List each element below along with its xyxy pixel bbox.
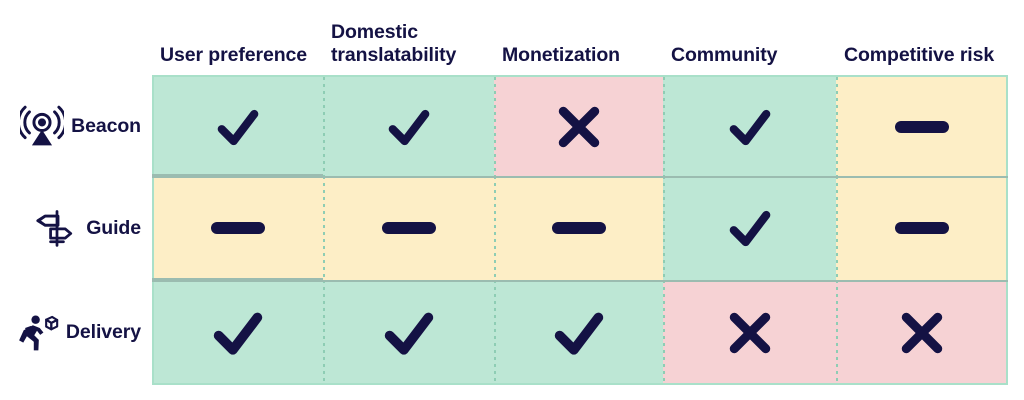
check-icon — [207, 302, 269, 364]
table-top-border — [152, 75, 1008, 77]
column-header-community: Community — [663, 0, 836, 77]
delivery-runner-icon — [15, 311, 59, 355]
row-header-delivery: Delivery — [0, 280, 152, 385]
cell-guide-user-preference — [152, 176, 323, 280]
beacon-icon — [20, 105, 64, 149]
dash-icon — [895, 222, 949, 234]
table-bottom-border — [152, 383, 1008, 385]
cell-guide-competitive-risk — [836, 176, 1008, 280]
cell-delivery-competitive-risk — [836, 280, 1008, 385]
cell-guide-monetization — [494, 176, 663, 280]
cell-beacon-community — [663, 77, 836, 176]
column-header-monetization: Monetization — [494, 0, 663, 77]
column-header-label: Competitive risk — [844, 44, 994, 67]
column-header-label: Domestic translatability — [331, 21, 494, 67]
cell-delivery-domestic-translatability — [323, 280, 494, 385]
comparison-matrix: User preference Domestic translatability… — [0, 0, 1024, 400]
dash-icon — [211, 222, 265, 234]
signpost-icon — [35, 206, 79, 250]
dash-icon — [382, 222, 436, 234]
cross-icon — [550, 98, 608, 156]
column-header-label: User preference — [160, 44, 307, 67]
column-header-domestic-translatability: Domestic translatability — [323, 0, 494, 77]
check-icon — [724, 101, 776, 153]
row-header-label: Beacon — [71, 115, 141, 138]
matrix-grid: User preference Domestic translatability… — [0, 0, 1024, 400]
cell-beacon-competitive-risk — [836, 77, 1008, 176]
matrix-corner-cell — [0, 0, 152, 77]
check-icon — [548, 302, 610, 364]
row-header-beacon: Beacon — [0, 77, 152, 176]
cell-guide-domestic-translatability — [323, 176, 494, 280]
cell-beacon-user-preference — [152, 77, 323, 176]
cell-delivery-monetization — [494, 280, 663, 385]
row-header-guide: Guide — [0, 176, 152, 280]
column-header-label: Community — [671, 44, 777, 67]
cell-delivery-user-preference — [152, 280, 323, 385]
column-header-competitive-risk: Competitive risk — [836, 0, 1008, 77]
dash-icon — [895, 121, 949, 133]
column-header-label: Monetization — [502, 44, 620, 67]
check-icon — [383, 101, 435, 153]
cross-icon — [721, 304, 779, 362]
check-icon — [212, 101, 264, 153]
check-icon — [724, 202, 776, 254]
row-header-label: Guide — [86, 217, 141, 240]
cross-icon — [893, 304, 951, 362]
column-header-user-preference: User preference — [152, 0, 323, 77]
cell-beacon-domestic-translatability — [323, 77, 494, 176]
cell-delivery-community — [663, 280, 836, 385]
row-separator-2 — [152, 280, 1008, 282]
dash-icon — [552, 222, 606, 234]
cell-guide-community — [663, 176, 836, 280]
row-header-label: Delivery — [66, 321, 141, 344]
cell-beacon-monetization — [494, 77, 663, 176]
row-separator-1 — [152, 176, 1008, 178]
check-icon — [378, 302, 440, 364]
